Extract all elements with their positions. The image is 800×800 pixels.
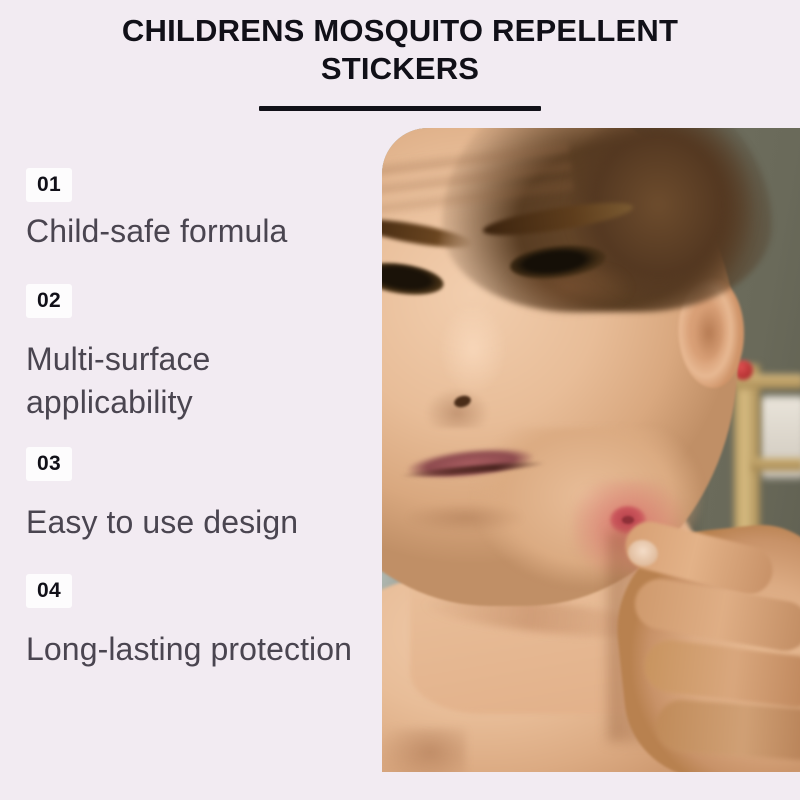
photo-scene bbox=[382, 128, 800, 772]
feature-label: Multi-surface applicability bbox=[26, 338, 356, 425]
list-item: 04 Long-lasting protection bbox=[26, 574, 366, 672]
feature-label: Long-lasting protection bbox=[26, 628, 356, 672]
product-photo bbox=[382, 128, 800, 772]
product-feature-poster: CHILDRENS MOSQUITO REPELLENT STICKERS 01… bbox=[0, 0, 800, 800]
poster-header: CHILDRENS MOSQUITO REPELLENT STICKERS bbox=[0, 12, 800, 111]
feature-list: 01 Child-safe formula 02 Multi-surface a… bbox=[26, 168, 366, 672]
armpit-shadow bbox=[382, 728, 466, 772]
nose bbox=[408, 304, 520, 428]
title-divider-rule bbox=[259, 106, 541, 111]
list-item: 01 Child-safe formula bbox=[26, 168, 366, 254]
feature-label: Child-safe formula bbox=[26, 210, 356, 254]
list-item: 02 Multi-surface applicability bbox=[26, 284, 366, 425]
feature-number-badge: 01 bbox=[26, 168, 72, 202]
ear-inner bbox=[694, 306, 724, 360]
feature-number-badge: 04 bbox=[26, 574, 72, 608]
chin-crease bbox=[390, 500, 540, 544]
list-item: 03 Easy to use design bbox=[26, 447, 366, 545]
page-title: CHILDRENS MOSQUITO REPELLENT STICKERS bbox=[0, 12, 800, 87]
mosquito-bite-center bbox=[622, 516, 634, 524]
feature-number-badge: 03 bbox=[26, 447, 72, 481]
bed-rail-lower bbox=[752, 458, 800, 471]
feature-label: Easy to use design bbox=[26, 501, 356, 545]
feature-number-badge: 02 bbox=[26, 284, 72, 318]
